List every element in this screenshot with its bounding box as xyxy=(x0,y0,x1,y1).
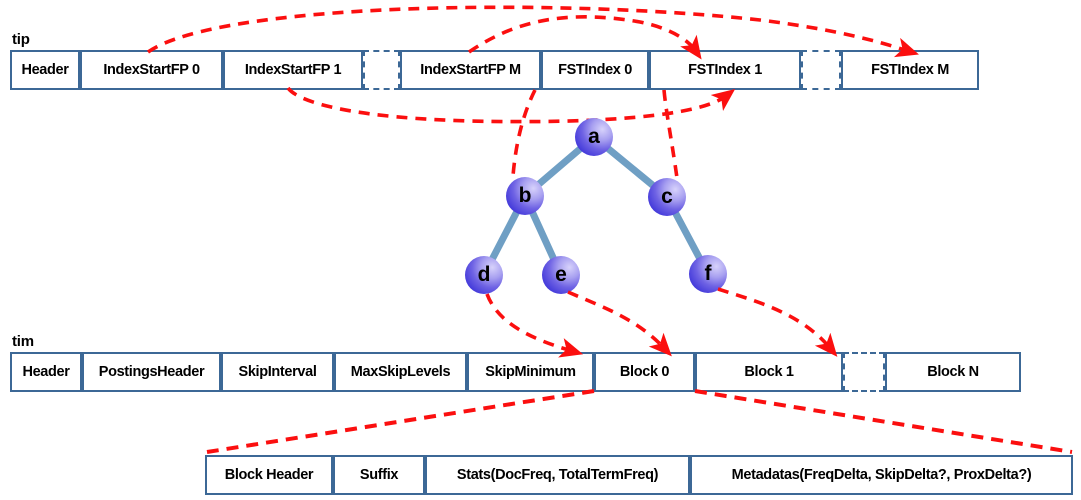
tim-cell: MaxSkipLevels xyxy=(334,352,467,392)
connector-indexstartfp0-to-fstindexM xyxy=(148,7,908,52)
block-detail-cell: Suffix xyxy=(333,455,425,495)
tip-ellipsis-cell xyxy=(801,50,841,90)
tip-row-label: tip xyxy=(12,31,30,48)
connector-block0-expand-left xyxy=(207,391,594,452)
tree-node-label-a: a xyxy=(574,126,614,147)
tree-node-d xyxy=(465,256,503,294)
tree-node-c xyxy=(648,178,686,216)
tree-node-label-d: d xyxy=(464,264,504,285)
tim-cell: SkipMinimum xyxy=(467,352,594,392)
tip-cell: IndexStartFP 1 xyxy=(223,50,363,90)
tip-cell: IndexStartFP 0 xyxy=(80,50,223,90)
connector-node-d-to-block0 xyxy=(487,294,572,351)
tree-node-label-f: f xyxy=(688,263,728,284)
connector-fstindex0-to-node-b xyxy=(513,90,535,176)
connector-indexstartfp1-to-fstindex1 xyxy=(288,88,726,122)
tim-cell: PostingsHeader xyxy=(82,352,221,392)
tree-node-label-b: b xyxy=(505,185,545,206)
tree-edges xyxy=(484,137,708,275)
tim-ellipsis-cell xyxy=(843,352,885,392)
tree-node-label-e: e xyxy=(541,264,581,285)
tim-cell: SkipInterval xyxy=(221,352,334,392)
tree-edge-c-f xyxy=(667,197,708,274)
tree-node-f xyxy=(689,255,727,293)
tip-cell: FSTIndex 0 xyxy=(541,50,649,90)
block-detail-cell: Stats(DocFreq, TotalTermFreq) xyxy=(425,455,690,495)
tree-node-label-c: c xyxy=(647,186,687,207)
connector-node-e-to-block1 xyxy=(568,292,664,348)
tree-edge-b-e xyxy=(525,196,561,275)
tim-cell: Block 0 xyxy=(594,352,695,392)
tip-cell: FSTIndex 1 xyxy=(649,50,801,90)
tree-node-a xyxy=(575,118,613,156)
connector-node-f-to-block1-end xyxy=(718,289,830,348)
tim-cell: Block 1 xyxy=(695,352,843,392)
tree-nodes xyxy=(465,118,727,294)
tree-node-b xyxy=(506,177,544,215)
tim-row-label: tim xyxy=(12,333,34,350)
connector-block0-expand-right xyxy=(695,391,1072,452)
tip-ellipsis-cell xyxy=(363,50,400,90)
tim-cell: Header xyxy=(10,352,82,392)
block-detail-cell: Block Header xyxy=(205,455,333,495)
connector-indexstartfpM-to-fstindex0 xyxy=(469,17,695,52)
tim-cell: Block N xyxy=(885,352,1021,392)
tree-edge-b-d xyxy=(484,196,525,275)
tip-cell: Header xyxy=(10,50,80,90)
tree-node-e xyxy=(542,256,580,294)
connector-fstindex1-to-node-c xyxy=(664,90,677,178)
tip-cell: FSTIndex M xyxy=(841,50,979,90)
block-detail-cell: Metadatas(FreqDelta, SkipDelta?, ProxDel… xyxy=(690,455,1073,495)
tree-edge-a-c xyxy=(594,137,667,197)
tree-edge-a-b xyxy=(525,137,594,196)
tip-cell: IndexStartFP M xyxy=(400,50,541,90)
diagram-canvas: tip HeaderIndexStartFP 0IndexStartFP 1In… xyxy=(0,0,1081,500)
